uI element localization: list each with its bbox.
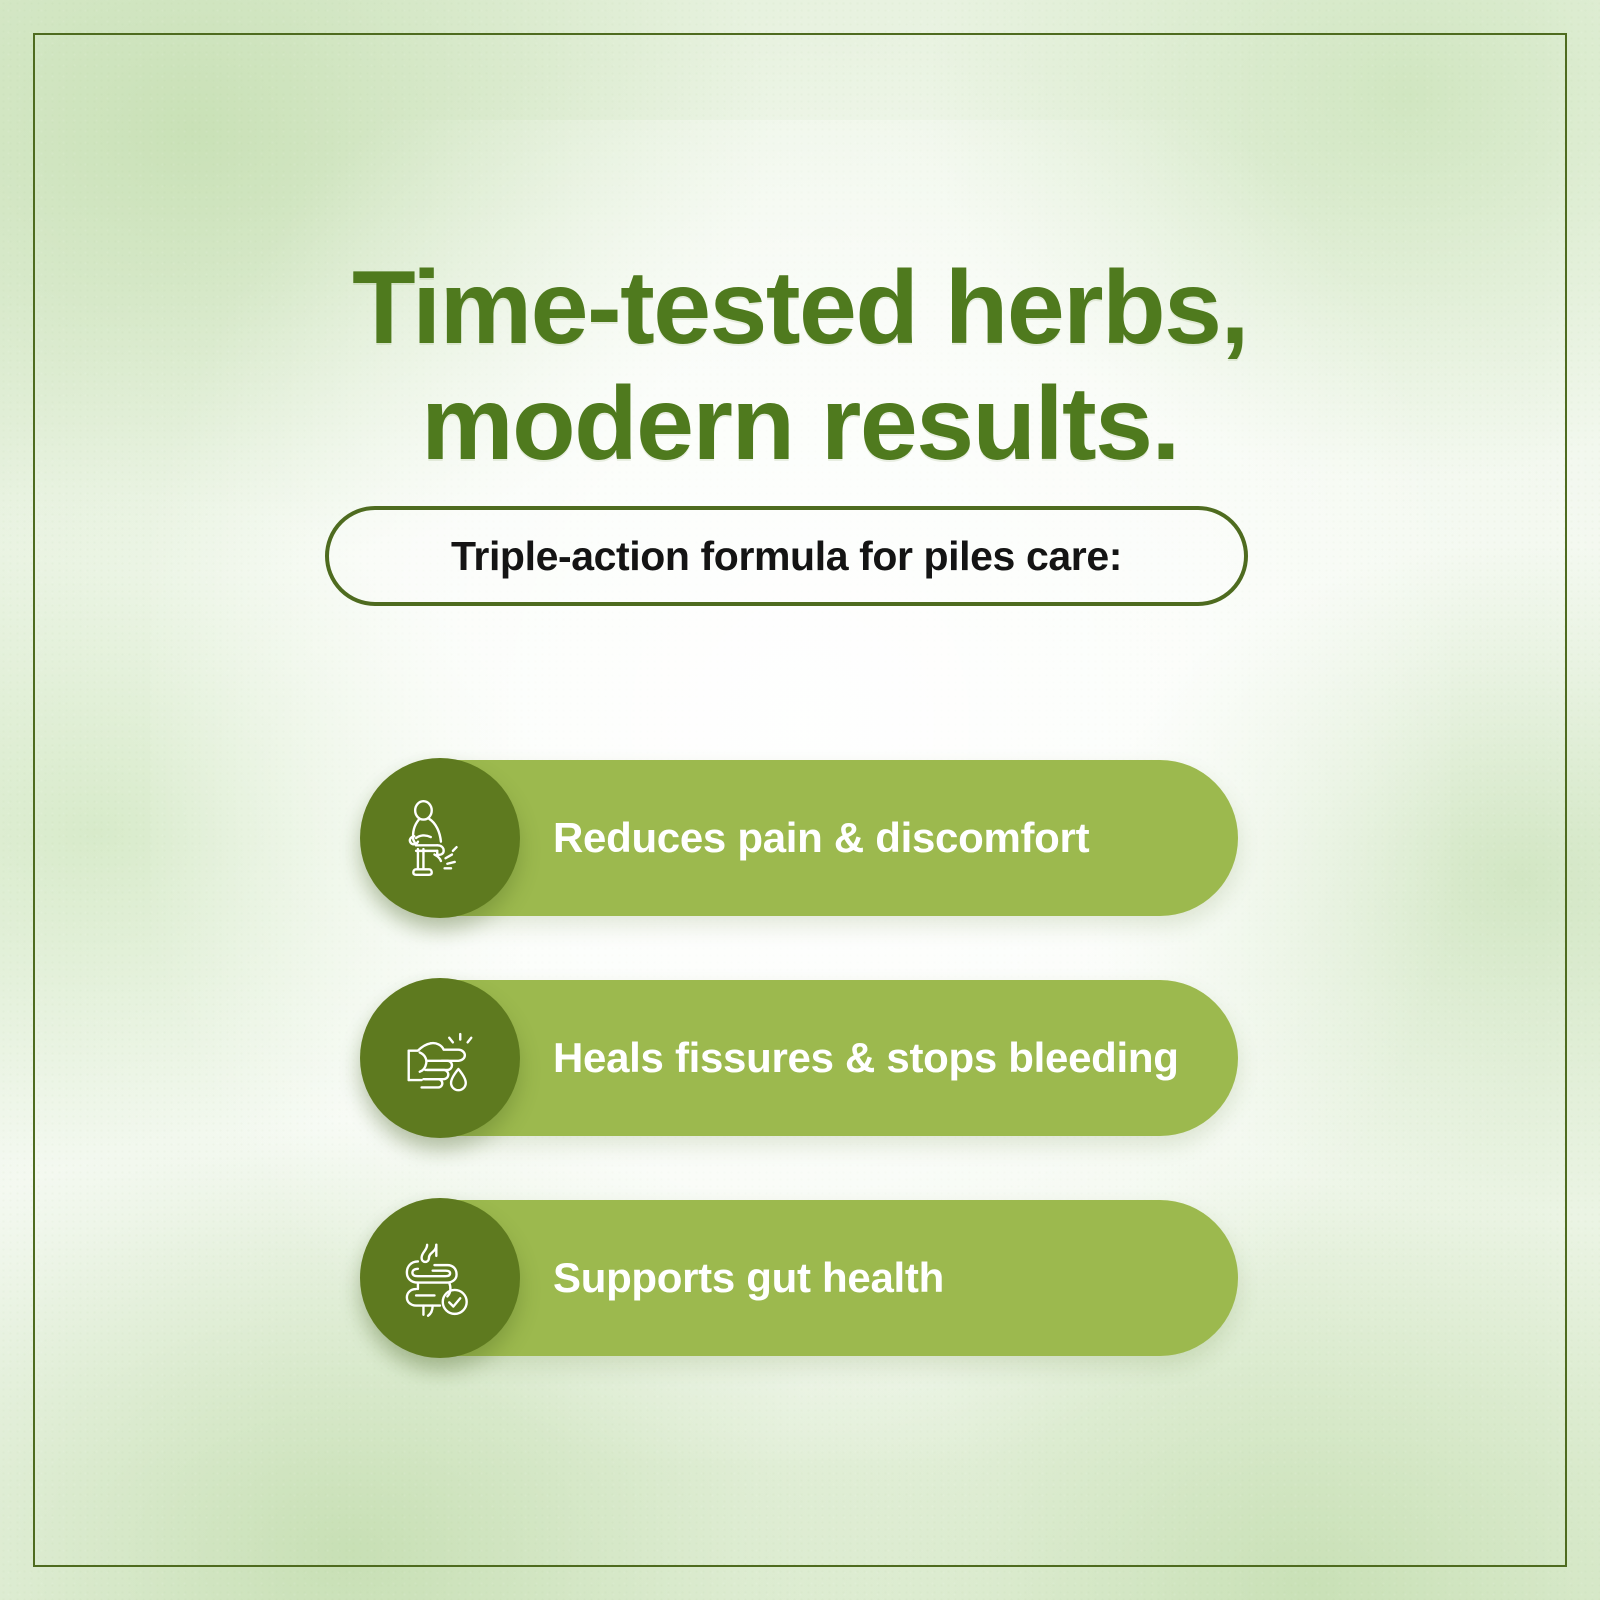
- feature-icon-badge: [360, 1198, 520, 1358]
- person-on-toilet-pain-icon: [394, 792, 486, 884]
- feature-label: Supports gut health: [553, 1200, 944, 1356]
- intestines-check-icon: [394, 1232, 486, 1324]
- poster-canvas: Time-tested herbs, modern results. Tripl…: [0, 0, 1600, 1600]
- feature-list: Reduces pain & discomfort: [0, 0, 1600, 1600]
- feature-icon-badge: [360, 978, 520, 1138]
- hand-blood-drop-icon: [394, 1012, 486, 1104]
- feature-icon-badge: [360, 758, 520, 918]
- poster-content: Time-tested herbs, modern results. Tripl…: [0, 0, 1600, 1600]
- feature-label: Reduces pain & discomfort: [553, 760, 1089, 916]
- feature-label: Heals fissures & stops bleeding: [553, 980, 1179, 1136]
